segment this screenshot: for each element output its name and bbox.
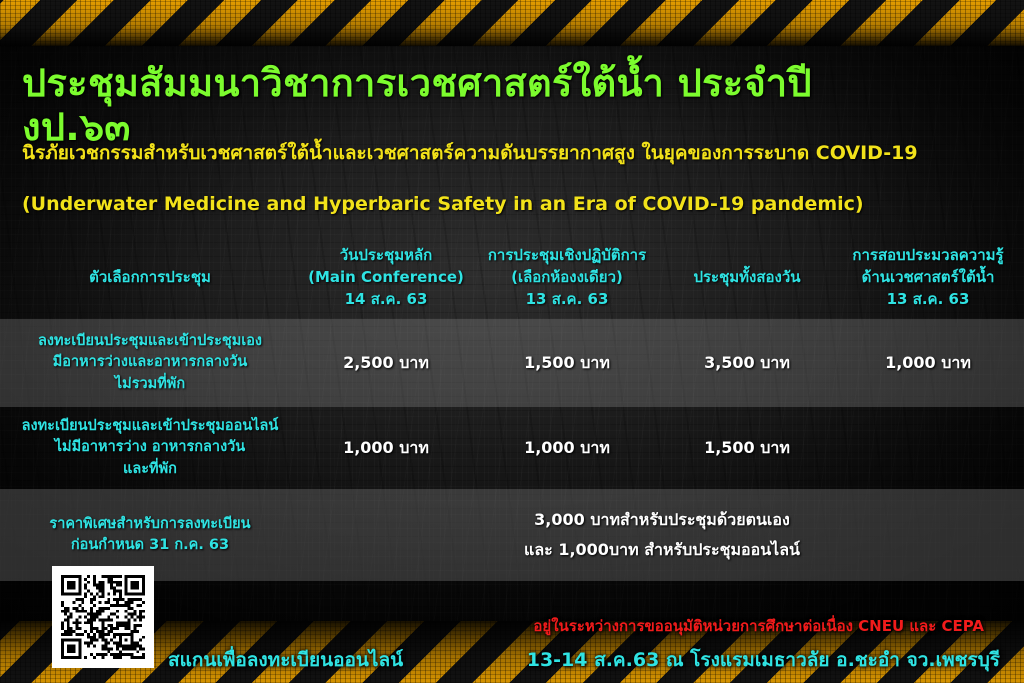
row-price-exam: 1,000 บาท	[832, 351, 1024, 374]
poster-root: ประชุมสัมมนาวิชาการเวชศาสตร์ใต้น้ำ ประจำ…	[0, 0, 1024, 683]
header-line-3: 13 ส.ค. 63	[478, 289, 656, 311]
price-value: 1,500 บาท	[668, 436, 826, 459]
header-line-1: การสอบประมวลความรู้	[838, 245, 1018, 267]
row-price-workshop: 1,500 บาท	[472, 351, 662, 374]
header-line-1: ประชุมทั้งสองวัน	[668, 267, 826, 289]
option-line-1: ลงทะเบียนประชุมและเข้าประชุมเอง	[6, 331, 294, 352]
fees-table: ตัวเลือกการประชุม วันประชุมหลัก (Main Co…	[0, 237, 1024, 581]
price-value: 3,500 บาท	[668, 351, 826, 374]
table-header-cell-workshop: การประชุมเชิงปฏิบัติการ (เลือกห้องงเดียว…	[472, 245, 662, 310]
row-price-both-days: 3,500 บาท	[662, 351, 832, 374]
header-line-1: ตัวเลือกการประชุม	[6, 267, 294, 289]
row-option-cell: ลงทะเบียนประชุมและเข้าประชุมออนไลน์ ไม่ม…	[0, 416, 300, 479]
row-price-main-conference: 1,000 บาท	[300, 436, 472, 459]
page-title: ประชุมสัมมนาวิชาการเวชศาสตร์ใต้น้ำ ประจำ…	[22, 62, 922, 149]
table-row: ลงทะเบียนประชุมและเข้าประชุมเอง มีอาหารว…	[0, 319, 1024, 407]
table-header-cell-main-conference: วันประชุมหลัก (Main Conference) 14 ส.ค. …	[300, 245, 472, 310]
header-line-2: ด้านเวชศาสตร์ใต้น้ำ	[838, 267, 1018, 289]
price-value: 1,000 บาท	[838, 351, 1018, 374]
content-layer: ประชุมสัมมนาวิชาการเวชศาสตร์ใต้น้ำ ประจำ…	[0, 0, 1024, 683]
row-price-main-conference: 2,500 บาท	[300, 351, 472, 374]
table-row: ลงทะเบียนประชุมและเข้าประชุมออนไลน์ ไม่ม…	[0, 407, 1024, 489]
header-line-3: 14 ส.ค. 63	[306, 289, 466, 311]
promo-line-1: ราคาพิเศษสำหรับการลงทะเบียน	[6, 514, 294, 535]
header-line-2: (Main Conference)	[306, 267, 466, 289]
price-value: 1,500 บาท	[478, 351, 656, 374]
header-line-1: วันประชุมหลัก	[306, 245, 466, 267]
price-value: 2,500 บาท	[306, 351, 466, 374]
table-header-cell-both-days: ประชุมทั้งสองวัน	[662, 267, 832, 289]
option-line-2: มีอาหารว่างและอาหารกลางวัน	[6, 352, 294, 373]
option-line-1: ลงทะเบียนประชุมและเข้าประชุมออนไลน์	[6, 416, 294, 437]
venue-and-date: 13-14 ส.ค.63 ณ โรงแรมเมธาวลัย อ.ชะอำ จว.…	[527, 645, 1000, 675]
promo-note-line-2: และ 1,000บาท สำหรับประชุมออนไลน์	[300, 535, 1024, 565]
header-line-1: การประชุมเชิงปฏิบัติการ	[478, 245, 656, 267]
qr-code[interactable]	[52, 566, 154, 668]
promo-note: 3,000 บาทสำหรับประชุมด้วยตนเอง และ 1,000…	[300, 505, 1024, 566]
table-header-row: ตัวเลือกการประชุม วันประชุมหลัก (Main Co…	[0, 237, 1024, 319]
row-price-both-days: 1,500 บาท	[662, 436, 832, 459]
option-line-2: ไม่มีอาหารว่าง อาหารกลางวัน	[6, 437, 294, 458]
accreditation-notice: อยู่ในระหว่างการขออนุมัติหน่วยการศึกษาต่…	[533, 614, 984, 638]
price-value: 1,000 บาท	[478, 436, 656, 459]
qr-code-image	[61, 575, 145, 659]
price-value: 1,000 บาท	[306, 436, 466, 459]
row-option-cell: ลงทะเบียนประชุมและเข้าประชุมเอง มีอาหารว…	[0, 331, 300, 394]
promo-line-2: ก่อนกำหนด 31 ก.ค. 63	[6, 535, 294, 556]
table-header-cell-option: ตัวเลือกการประชุม	[0, 267, 300, 289]
subtitle-thai: นิรภัยเวชกรรมสำหรับเวชศาสตร์ใต้น้ำและเวช…	[22, 138, 982, 168]
scan-to-register-label: สแกนเพื่อลงทะเบียนออนไลน์	[168, 645, 403, 675]
row-price-workshop: 1,000 บาท	[472, 436, 662, 459]
option-line-3: ไม่รวมที่พัก	[6, 374, 294, 395]
header-line-2: (เลือกห้องงเดียว)	[478, 267, 656, 289]
table-header-cell-exam: การสอบประมวลความรู้ ด้านเวชศาสตร์ใต้น้ำ …	[832, 245, 1024, 310]
promo-note-line-1: 3,000 บาทสำหรับประชุมด้วยตนเอง	[300, 505, 1024, 535]
subtitle-english: (Underwater Medicine and Hyperbaric Safe…	[22, 193, 982, 215]
promo-option-cell: ราคาพิเศษสำหรับการลงทะเบียน ก่อนกำหนด 31…	[0, 514, 300, 556]
option-line-3: และที่พัก	[6, 459, 294, 480]
header-line-3: 13 ส.ค. 63	[838, 289, 1018, 311]
